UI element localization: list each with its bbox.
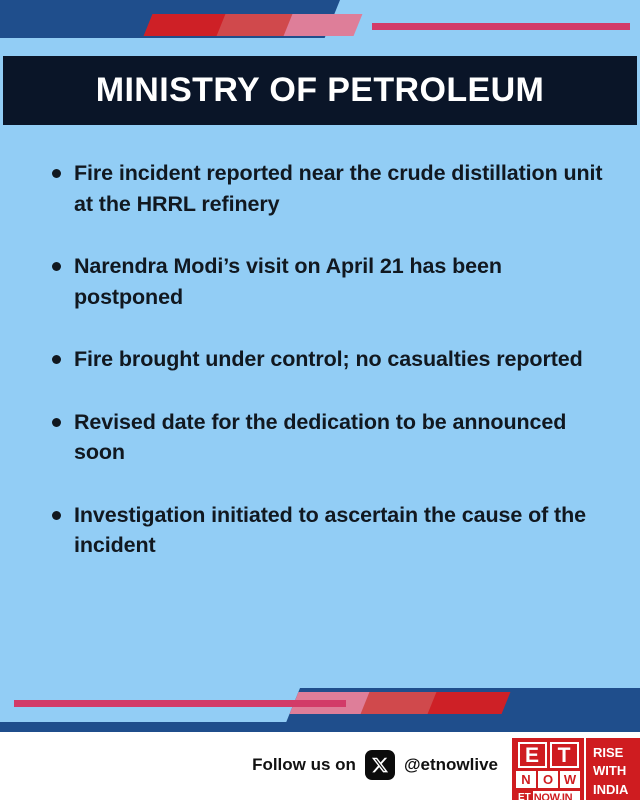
list-item-text: Fire incident reported near the crude di… (74, 158, 610, 219)
page-title: MINISTRY OF PETROLEUM (96, 71, 545, 110)
bottom-blue-underbar (0, 722, 640, 732)
etnow-logo-et-row: E T (516, 742, 580, 768)
etnow-logo-block: E T N O W ET NOW.IN RISE WITH INDIA (512, 738, 640, 800)
list-item-text: Narendra Modi’s visit on April 21 has be… (74, 251, 610, 312)
bottom-midred-bar (361, 692, 438, 714)
top-midred-bar (217, 14, 294, 36)
list-item: Narendra Modi’s visit on April 21 has be… (0, 251, 640, 312)
tagline-line-1: RISE (593, 744, 640, 762)
bottom-decoration-strip (0, 682, 640, 732)
footer-bar: Follow us on @etnowlive E T N O W (0, 732, 640, 800)
etnow-logo-letter-w: W (560, 771, 580, 788)
list-item: Investigation initiated to ascertain the… (0, 500, 640, 561)
bottom-pink-line (14, 700, 346, 707)
list-item: Fire brought under control; no casualtie… (0, 344, 640, 375)
etnow-url-suffix: NOW.IN (533, 791, 573, 800)
bullet-dot-icon (52, 418, 61, 427)
tagline-line-2: WITH (593, 762, 640, 780)
top-pink-line (372, 23, 630, 30)
list-item-text: Fire brought under control; no casualtie… (74, 344, 610, 375)
etnow-url-bar: ET NOW.IN (516, 791, 580, 800)
list-item: Fire incident reported near the crude di… (0, 158, 640, 219)
etnow-logo-letter-n: N (516, 771, 536, 788)
bullet-dot-icon (52, 262, 61, 271)
top-pink-bar (284, 14, 363, 36)
bullet-dot-icon (52, 511, 61, 520)
etnow-logo-now-row: N O W (516, 771, 580, 788)
bullet-dot-icon (52, 355, 61, 364)
social-handle[interactable]: @etnowlive (404, 755, 498, 775)
top-decoration-strip (0, 0, 640, 50)
etnow-tagline: RISE WITH INDIA (584, 738, 640, 800)
follow-us-group: Follow us on @etnowlive (252, 750, 498, 780)
etnow-logo-letter-t: T (550, 742, 579, 768)
x-twitter-icon[interactable] (365, 750, 395, 780)
list-item: Revised date for the dedication to be an… (0, 407, 640, 468)
bullet-list: Fire incident reported near the crude di… (0, 158, 640, 593)
top-red-bar (144, 14, 227, 36)
list-item-text: Revised date for the dedication to be an… (74, 407, 610, 468)
title-bar: MINISTRY OF PETROLEUM (3, 56, 637, 125)
etnow-url-prefix: ET (516, 791, 533, 800)
list-item-text: Investigation initiated to ascertain the… (74, 500, 610, 561)
etnow-logo: E T N O W ET NOW.IN (512, 738, 584, 800)
bottom-red-bar (428, 692, 511, 714)
infographic-card: MINISTRY OF PETROLEUM Fire incident repo… (0, 0, 640, 800)
bullet-dot-icon (52, 169, 61, 178)
etnow-logo-letter-e: E (518, 742, 547, 768)
etnow-logo-letter-o: O (538, 771, 558, 788)
tagline-line-3: INDIA (593, 781, 640, 799)
follow-us-label: Follow us on (252, 755, 356, 775)
